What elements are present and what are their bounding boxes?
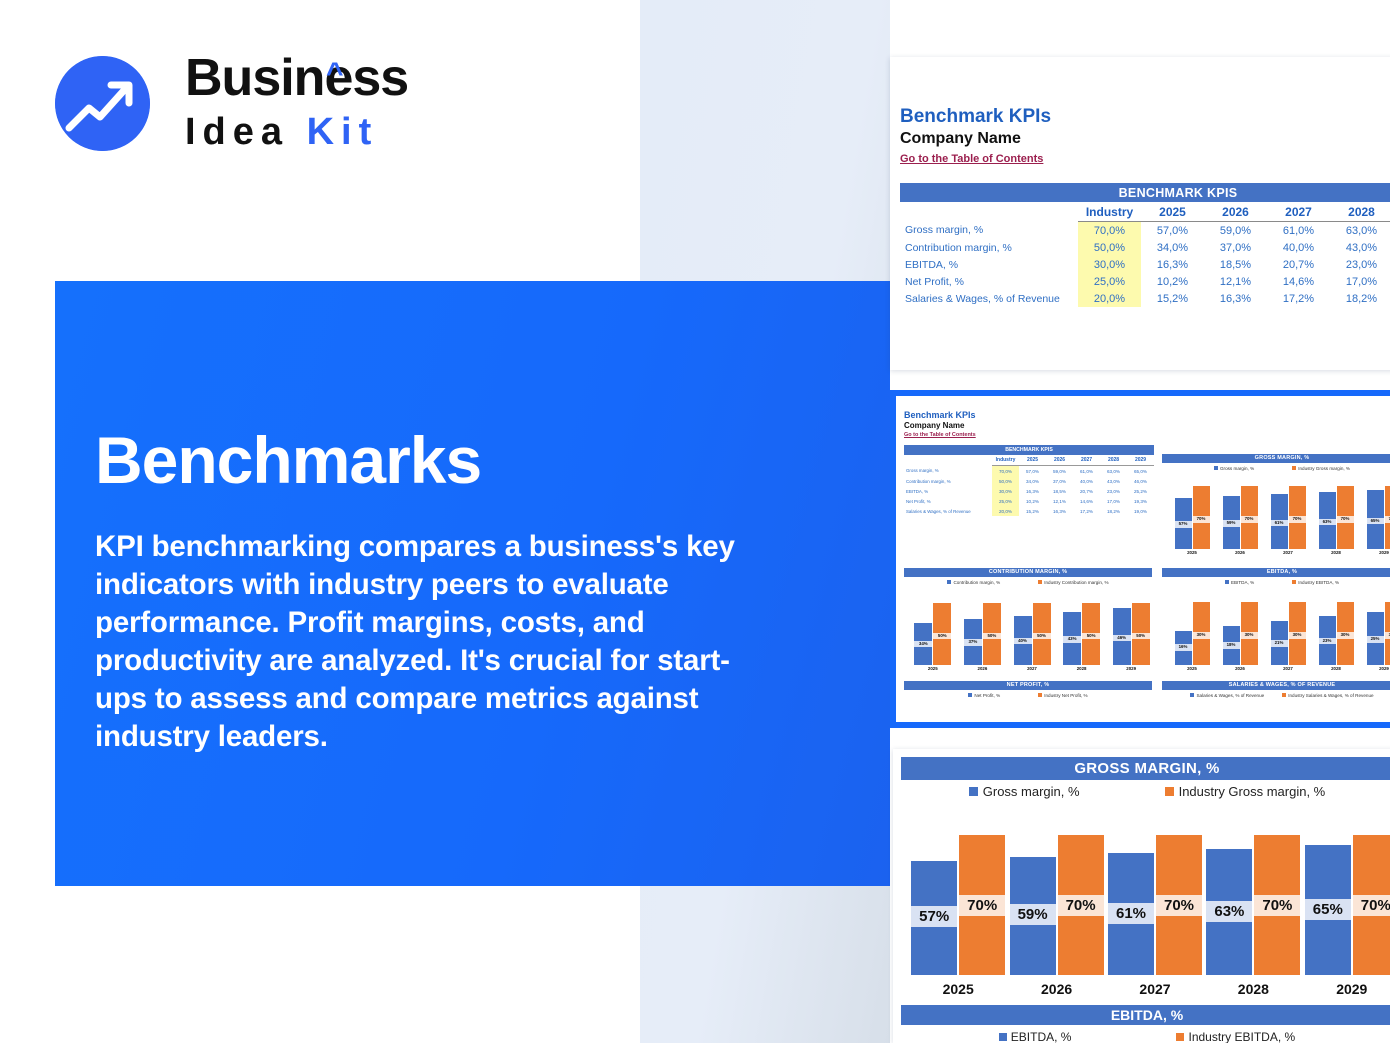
row-label: Net Profit, % <box>904 496 992 506</box>
cell-2026: 37,0% <box>1204 239 1267 256</box>
row-label: EBITDA, % <box>900 256 1078 273</box>
chart-x-axis: 20252026202720282029 <box>901 981 1390 1003</box>
ebitda-chart-legend: EBITDA, % Industry EBITDA, % <box>901 1030 1390 1043</box>
bar-value-label: 25% <box>1367 636 1384 642</box>
bar-value-label: 23% <box>1319 638 1336 644</box>
cell-2025: 16,3% <box>1141 256 1204 273</box>
cell-2025: 34,0% <box>1141 239 1204 256</box>
legend-label: Salaries & Wages, % of Revenue <box>1196 693 1264 698</box>
bar-value-label: 43% <box>1063 636 1081 642</box>
cell-2028: 17,0% <box>1330 273 1390 290</box>
x-axis-label: 2028 <box>1312 666 1360 671</box>
legend-swatch-blue-icon <box>968 693 972 697</box>
legend-label: EBITDA, % <box>1231 580 1254 585</box>
cell-2029: 19,0% <box>1127 506 1154 516</box>
cell-2025: 15,2% <box>1019 506 1046 516</box>
row-label: Gross margin, % <box>904 466 992 477</box>
legend-item-industry: Industry Gross margin, % <box>1165 784 1326 799</box>
bar-value-label: 34% <box>914 641 932 647</box>
legend-item-industry: Industry Salaries & Wages, % of Revenue <box>1282 693 1373 698</box>
bar-value-label: 70% <box>1337 516 1354 522</box>
legend-swatch-orange-icon <box>1038 580 1042 584</box>
x-axis-label: 2028 <box>1057 666 1107 671</box>
cell-2026: 59,0% <box>1046 466 1073 477</box>
bar-value-label: 18% <box>1223 642 1240 648</box>
legend-swatch-orange-icon <box>1176 1033 1184 1041</box>
slide-description: KPI benchmarking compares a business's k… <box>95 528 765 756</box>
cell-2026: 12,1% <box>1204 273 1267 290</box>
bar-value-label: 70% <box>1193 516 1210 522</box>
col-header-2027: 2027 <box>1267 202 1330 222</box>
cell-2026: 18,5% <box>1204 256 1267 273</box>
mini-plot-area: 34%50%37%50%40%50%43%50%46%50%2025202620… <box>904 591 1152 665</box>
cell-2025: 15,2% <box>1141 290 1204 307</box>
row-label: Contribution margin, % <box>904 476 992 486</box>
table-title: BENCHMARK KPIS <box>900 183 1390 202</box>
cell-2028: 43,0% <box>1330 239 1390 256</box>
cell-2027: 61,0% <box>1073 466 1100 477</box>
mini-chart-title: CONTRIBUTION MARGIN, % <box>904 568 1152 577</box>
legend-swatch-blue-icon <box>1190 693 1194 697</box>
mini-plot-area: 57%70%59%70%61%70%63%70%65%70%2025202620… <box>1162 477 1390 549</box>
legend-label: Gross margin, % <box>983 784 1080 799</box>
mini-chart-net-profit: NET PROFIT, % Net Profit, % Industry Net… <box>904 681 1152 698</box>
chart-plot-area: 57%70%59%70%61%70%63%70%65%70% <box>901 815 1390 975</box>
cell-2025: 16,3% <box>1019 486 1046 496</box>
cell-2025: 34,0% <box>1019 476 1046 486</box>
legend-label: Contribution margin, % <box>953 580 1000 585</box>
mini-col-2029: 2029 <box>1127 455 1154 466</box>
bar-value-label: 40% <box>1014 638 1032 644</box>
chart-legend: Gross margin, % Industry Gross margin, % <box>901 784 1390 799</box>
legend-item-company: EBITDA, % <box>999 1030 1072 1043</box>
x-axis-label: 2029 <box>1106 666 1156 671</box>
table-row: Gross margin, % 70,0% 57,0% 59,0% 61,0% … <box>904 466 1154 477</box>
cell-2029: 46,0% <box>1127 476 1154 486</box>
cell-2026: 18,5% <box>1046 486 1073 496</box>
cell-2028: 63,0% <box>1330 222 1390 240</box>
cell-2026: 37,0% <box>1046 476 1073 486</box>
cell-2027: 20,7% <box>1267 256 1330 273</box>
x-axis-label: 2027 <box>1264 550 1312 555</box>
brand-logo: Business ^ Idea Kit <box>55 48 445 163</box>
col-header-industry: Industry <box>1078 202 1141 222</box>
legend-label: Industry Salaries & Wages, % of Revenue <box>1288 693 1373 698</box>
bar-value-label: 70% <box>1289 516 1306 522</box>
legend-swatch-orange-icon <box>1292 466 1296 470</box>
table-row: Net Profit, % 25,0% 10,2% 12,1% 14,6% 17… <box>904 496 1154 506</box>
mini-table-title: BENCHMARK KPIS <box>904 445 1154 455</box>
cell-2028: 18,2% <box>1100 506 1127 516</box>
table-row: Contribution margin, % 50,0% 34,0% 37,0%… <box>904 476 1154 486</box>
row-label: Gross margin, % <box>900 222 1078 240</box>
cell-industry: 25,0% <box>1078 273 1141 290</box>
mini-col-2025: 2025 <box>1019 455 1046 466</box>
sheet-subheading: Company Name <box>900 128 1390 149</box>
bar-value-label: 63% <box>1206 901 1252 922</box>
bar-value-label: 70% <box>1353 895 1390 916</box>
cell-2027: 61,0% <box>1267 222 1330 240</box>
legend-item-company: Gross margin, % <box>1214 466 1254 471</box>
row-label: Net Profit, % <box>900 273 1078 290</box>
cell-2027: 40,0% <box>1267 239 1330 256</box>
x-axis-label: 2027 <box>1007 666 1057 671</box>
row-label: Contribution margin, % <box>900 239 1078 256</box>
cell-industry: 70,0% <box>992 466 1019 477</box>
legend-swatch-blue-icon <box>1214 466 1218 470</box>
table-row: Contribution margin, % 50,0% 34,0% 37,0%… <box>900 239 1390 256</box>
legend-swatch-blue-icon <box>969 787 978 796</box>
mini-x-axis: 20252026202720282029 <box>904 666 1152 674</box>
cell-2027: 17,2% <box>1267 290 1330 307</box>
cell-2025: 57,0% <box>1141 222 1204 240</box>
legend-item-industry: Industry EBITDA, % <box>1176 1030 1295 1043</box>
cell-2025: 10,2% <box>1141 273 1204 290</box>
row-label: Salaries & Wages, % of Revenue <box>904 506 992 516</box>
legend-item-industry: Industry EBITDA, % <box>1292 580 1339 585</box>
row-label: Salaries & Wages, % of Revenue <box>900 290 1078 307</box>
x-axis-label: 2025 <box>1168 666 1216 671</box>
cell-2025: 57,0% <box>1019 466 1046 477</box>
mini-chart-title: NET PROFIT, % <box>904 681 1152 690</box>
cell-2028: 43,0% <box>1100 476 1127 486</box>
col-header-2028: 2028 <box>1330 202 1390 222</box>
legend-swatch-orange-icon <box>1038 693 1042 697</box>
legend-swatch-blue-icon <box>999 1033 1007 1041</box>
cell-2029: 19,3% <box>1127 496 1154 506</box>
col-header-2026: 2026 <box>1204 202 1267 222</box>
chart-title: GROSS MARGIN, % <box>901 757 1390 780</box>
legend-item-company: Salaries & Wages, % of Revenue <box>1190 693 1264 698</box>
legend-label: Industry Gross margin, % <box>1298 466 1350 471</box>
dashboard-kpis-table: BENCHMARK KPIS Industry 2025 2026 2027 2… <box>904 445 1154 516</box>
legend-item-company: Gross margin, % <box>969 784 1080 799</box>
cell-2028: 17,0% <box>1100 496 1127 506</box>
table-row: EBITDA, % 30,0% 16,3% 18,5% 20,7% 23,0% … <box>904 486 1154 496</box>
sheet-heading: Benchmark KPIs <box>900 105 1390 128</box>
bar-value-label: 57% <box>1175 521 1192 527</box>
cell-2029: 25,2% <box>1127 486 1154 496</box>
row-label: EBITDA, % <box>904 486 992 496</box>
mini-x-axis: 20252026202720282029 <box>1162 666 1390 674</box>
page-title: Benchmarks <box>95 424 481 496</box>
brand-name-primary: Business ^ <box>185 48 408 108</box>
bar-value-label: 70% <box>1241 516 1258 522</box>
mini-chart-legend: Contribution margin, % Industry Contribu… <box>904 580 1152 585</box>
cell-2026: 12,1% <box>1046 496 1073 506</box>
legend-swatch-orange-icon <box>1165 787 1174 796</box>
cell-industry: 50,0% <box>992 476 1019 486</box>
cell-industry: 20,0% <box>992 506 1019 516</box>
dashboard-subheading: Company Name <box>904 421 1390 431</box>
brand-word-idea: Idea <box>185 111 307 153</box>
table-title-row: BENCHMARK KPIS <box>900 183 1390 202</box>
benchmark-kpis-table: BENCHMARK KPIS Industry 2025 2026 2027 2… <box>900 183 1390 307</box>
brand-caret-accent: ^ <box>326 44 343 104</box>
legend-item-industry: Industry Contribution margin, % <box>1038 580 1108 585</box>
bar-value-label: 50% <box>933 633 951 639</box>
mini-chart-ebitda: EBITDA, % EBITDA, % Industry EBITDA, % 1… <box>1162 568 1390 665</box>
cell-2029: 65,0% <box>1127 466 1154 477</box>
x-axis-label: 2029 <box>1360 666 1390 671</box>
bar-value-label: 30% <box>1289 632 1306 638</box>
cell-industry: 25,0% <box>992 496 1019 506</box>
ebitda-chart-title: EBITDA, % <box>901 1005 1390 1025</box>
bar-value-label: 70% <box>1058 895 1104 916</box>
growth-arrow-icon <box>55 56 150 151</box>
cell-2027: 14,6% <box>1267 273 1330 290</box>
bar-value-label: 16% <box>1175 644 1192 650</box>
bar-value-label: 65% <box>1305 899 1351 920</box>
bar-value-label: 30% <box>1385 632 1390 638</box>
legend-label: Gross margin, % <box>1220 466 1254 471</box>
legend-label: Industry Net Profit, % <box>1044 693 1087 698</box>
mini-chart-gross-margin: GROSS MARGIN, % Gross margin, % Industry… <box>1162 454 1390 549</box>
mini-col-2027: 2027 <box>1073 455 1100 466</box>
legend-swatch-blue-icon <box>1225 580 1229 584</box>
mini-plot-area: 16%30%18%30%21%30%23%30%25%30%2025202620… <box>1162 591 1390 665</box>
cell-industry: 50,0% <box>1078 239 1141 256</box>
x-axis-label: 2026 <box>958 666 1008 671</box>
legend-label: Industry EBITDA, % <box>1188 1030 1295 1043</box>
cell-2027: 40,0% <box>1073 476 1100 486</box>
legend-swatch-blue-icon <box>947 580 951 584</box>
table-of-contents-link[interactable]: Go to the Table of Contents <box>900 151 1043 167</box>
legend-item-industry: Industry Gross margin, % <box>1292 466 1350 471</box>
legend-swatch-orange-icon <box>1282 693 1286 697</box>
cell-2027: 17,2% <box>1073 506 1100 516</box>
cell-2027: 14,6% <box>1073 496 1100 506</box>
x-axis-label: 2027 <box>1106 981 1204 997</box>
cell-2028: 23,0% <box>1330 256 1390 273</box>
legend-label: Industry Contribution margin, % <box>1044 580 1108 585</box>
dashboard-heading: Benchmark KPIs <box>904 410 1390 421</box>
legend-label: Net Profit, % <box>974 693 1000 698</box>
mini-chart-title: EBITDA, % <box>1162 568 1390 577</box>
bar-value-label: 37% <box>964 639 982 645</box>
cell-2028: 63,0% <box>1100 466 1127 477</box>
bar-value-label: 50% <box>1132 633 1150 639</box>
legend-item-industry: Industry Net Profit, % <box>1038 693 1087 698</box>
mini-chart-contribution-margin: CONTRIBUTION MARGIN, % Contribution marg… <box>904 568 1152 665</box>
cell-2026: 16,3% <box>1204 290 1267 307</box>
legend-item-company: Net Profit, % <box>968 693 1000 698</box>
table-row: EBITDA, % 30,0% 16,3% 18,5% 20,7% 23,0% … <box>900 256 1390 273</box>
legend-label: Industry Gross margin, % <box>1179 784 1326 799</box>
mini-chart-legend: Salaries & Wages, % of Revenue Industry … <box>1162 693 1390 698</box>
mini-col-2028: 2028 <box>1100 455 1127 466</box>
mini-chart-salaries-wages: SALARIES & WAGES, % OF REVENUE Salaries … <box>1162 681 1390 698</box>
bar-value-label: 70% <box>1385 516 1390 522</box>
table-header-row: Industry 2025 2026 2027 2028 2029 <box>900 202 1390 222</box>
mini-chart-title: GROSS MARGIN, % <box>1162 454 1390 463</box>
x-axis-label: 2026 <box>1007 981 1105 997</box>
bar-value-label: 59% <box>1010 904 1056 925</box>
bar-value-label: 30% <box>1193 632 1210 638</box>
legend-item-company: EBITDA, % <box>1225 580 1254 585</box>
cell-2027: 20,7% <box>1073 486 1100 496</box>
brand-name-secondary: Idea Kit <box>185 108 408 156</box>
bar-value-label: 59% <box>1223 520 1240 526</box>
bar-value-label: 50% <box>983 633 1001 639</box>
cell-2026: 59,0% <box>1204 222 1267 240</box>
bar-value-label: 70% <box>959 895 1005 916</box>
benchmark-dashboard-card: Benchmark KPIs Company Name Go to the Ta… <box>896 396 1390 722</box>
bar-value-label: 70% <box>1254 895 1300 916</box>
cell-industry: 20,0% <box>1078 290 1141 307</box>
mini-col-2026: 2026 <box>1046 455 1073 466</box>
bar-value-label: 30% <box>1337 632 1354 638</box>
x-axis-label: 2027 <box>1264 666 1312 671</box>
dashboard-toc-link[interactable]: Go to the Table of Contents <box>904 431 1390 440</box>
legend-swatch-orange-icon <box>1292 580 1296 584</box>
table-row: Net Profit, % 25,0% 10,2% 12,1% 14,6% 17… <box>900 273 1390 290</box>
bar-value-label: 63% <box>1319 519 1336 525</box>
x-axis-label: 2025 <box>1168 550 1216 555</box>
brand-word-kit: Kit <box>307 111 379 153</box>
cell-2026: 16,3% <box>1046 506 1073 516</box>
cell-2028: 23,0% <box>1100 486 1127 496</box>
table-row: Salaries & Wages, % of Revenue 20,0% 15,… <box>904 506 1154 516</box>
mini-chart-title: SALARIES & WAGES, % OF REVENUE <box>1162 681 1390 690</box>
bar-value-label: 30% <box>1241 632 1258 638</box>
mini-chart-legend: Gross margin, % Industry Gross margin, % <box>1162 466 1390 471</box>
bar-value-label: 21% <box>1271 640 1288 646</box>
bar-value-label: 57% <box>911 906 957 927</box>
x-axis-label: 2026 <box>1216 666 1264 671</box>
bar-value-label: 46% <box>1113 635 1131 641</box>
benchmark-kpis-sheet-card: Benchmark KPIs Company Name Go to the Ta… <box>890 57 1390 370</box>
x-axis-label: 2029 <box>1303 981 1390 997</box>
legend-item-company: Contribution margin, % <box>947 580 1000 585</box>
brand-word-business: Business <box>185 49 408 107</box>
cell-industry: 30,0% <box>1078 256 1141 273</box>
cell-industry: 70,0% <box>1078 222 1141 240</box>
mini-chart-legend: Net Profit, % Industry Net Profit, % <box>904 693 1152 698</box>
legend-label: EBITDA, % <box>1011 1030 1072 1043</box>
table-row: Gross margin, % 70,0% 57,0% 59,0% 61,0% … <box>900 222 1390 240</box>
mini-x-axis: 20252026202720282029 <box>1162 550 1390 558</box>
mini-chart-legend: EBITDA, % Industry EBITDA, % <box>1162 580 1390 585</box>
bar-value-label: 65% <box>1367 518 1384 524</box>
legend-label: Industry EBITDA, % <box>1298 580 1339 585</box>
x-axis-label: 2026 <box>1216 550 1264 555</box>
bar-value-label: 50% <box>1033 633 1051 639</box>
mini-col-industry: Industry <box>992 455 1019 466</box>
x-axis-label: 2025 <box>908 666 958 671</box>
x-axis-label: 2028 <box>1312 550 1360 555</box>
x-axis-label: 2025 <box>909 981 1007 997</box>
x-axis-label: 2029 <box>1360 550 1390 555</box>
col-header-2025: 2025 <box>1141 202 1204 222</box>
table-row: Salaries & Wages, % of Revenue 20,0% 15,… <box>900 290 1390 307</box>
bar-value-label: 61% <box>1108 903 1154 924</box>
cell-2028: 18,2% <box>1330 290 1390 307</box>
bar-value-label: 50% <box>1082 633 1100 639</box>
cell-industry: 30,0% <box>992 486 1019 496</box>
gross-margin-chart-card: GROSS MARGIN, % Gross margin, % Industry… <box>893 749 1390 1043</box>
x-axis-label: 2028 <box>1204 981 1302 997</box>
bar-value-label: 61% <box>1271 520 1288 526</box>
bar-value-label: 70% <box>1156 895 1202 916</box>
cell-2025: 10,2% <box>1019 496 1046 506</box>
